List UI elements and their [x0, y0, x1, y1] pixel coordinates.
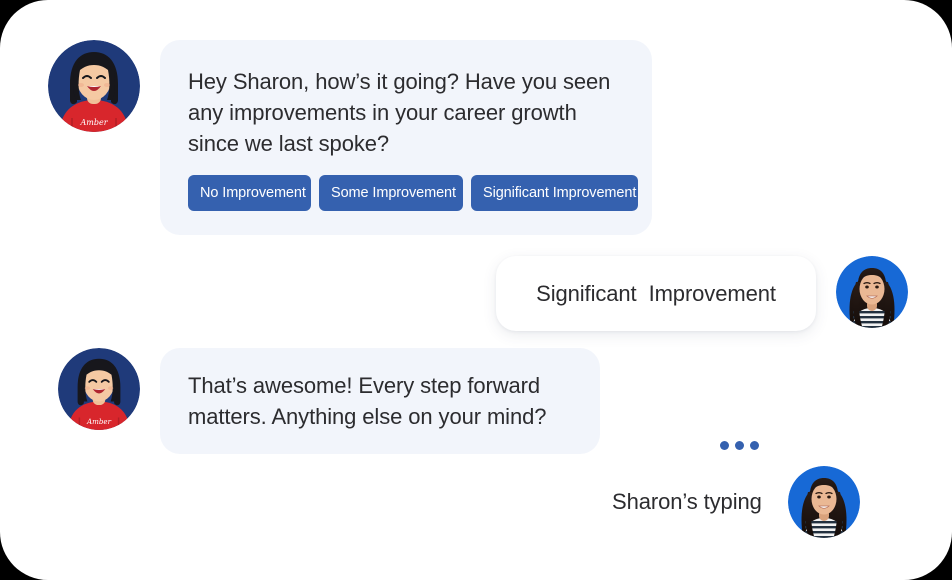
typing-indicator-row: Sharon’s typing — [612, 463, 860, 541]
avatar-shirt-text: Amber — [86, 417, 112, 426]
quick-reply-some-improvement[interactable]: Some Improvement — [319, 175, 463, 211]
quick-reply-significant-improvement[interactable]: Significant Improvement — [471, 175, 638, 211]
agent-avatar-amber: Amber — [48, 40, 140, 132]
message-row-user-reply: Significant Improvement — [496, 256, 908, 331]
user-message-text: Significant Improvement — [524, 278, 788, 309]
quick-reply-no-improvement[interactable]: No Improvement — [188, 175, 311, 211]
user-avatar-sharon — [788, 466, 860, 538]
chat-panel: Amber Hey Sharon, how’s it going? Have y… — [0, 0, 952, 580]
agent-message-bubble: Hey Sharon, how’s it going? Have you see… — [160, 40, 652, 235]
typing-dot-3 — [750, 441, 759, 450]
message-row-agent-greeting: Amber Hey Sharon, how’s it going? Have y… — [48, 40, 652, 235]
typing-dots-icon — [720, 441, 759, 450]
typing-dot-1 — [720, 441, 729, 450]
user-avatar-sharon — [836, 256, 908, 328]
message-row-agent-followup: Amber That’s awesome! Every step forward… — [58, 348, 600, 454]
typing-indicator: Sharon’s typing — [612, 463, 762, 541]
agent-followup-text: That’s awesome! Every step forward matte… — [188, 370, 572, 432]
avatar-shirt-text: Amber — [79, 118, 108, 127]
quick-reply-group: No Improvement Some Improvement Signific… — [188, 175, 648, 211]
agent-message-text: Hey Sharon, how’s it going? Have you see… — [188, 66, 624, 159]
typing-dot-2 — [735, 441, 744, 450]
agent-followup-bubble: That’s awesome! Every step forward matte… — [160, 348, 600, 454]
typing-label: Sharon’s typing — [612, 488, 762, 516]
agent-avatar-amber: Amber — [58, 348, 140, 430]
user-message-bubble: Significant Improvement — [496, 256, 816, 331]
